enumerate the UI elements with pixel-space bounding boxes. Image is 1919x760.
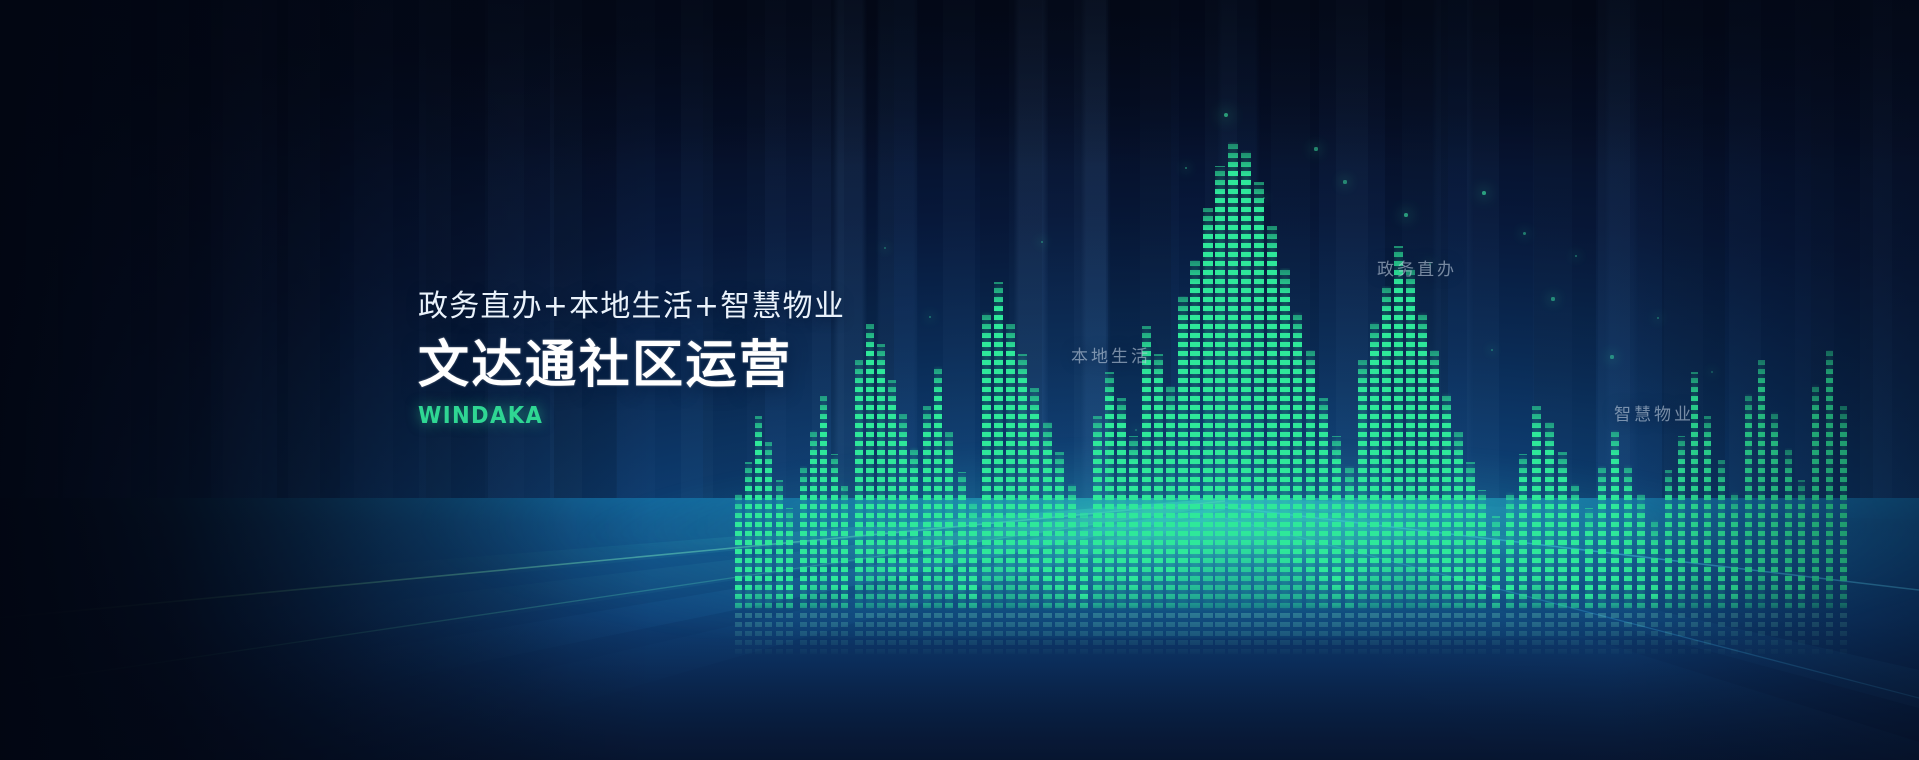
skyline-bar — [910, 446, 918, 612]
skyline-bar — [1370, 322, 1379, 612]
skyline-bar-dots — [1319, 398, 1328, 612]
skyline-bar-dots — [1178, 296, 1188, 612]
skyline-bar — [1532, 406, 1541, 612]
skyline-bar-reflection-dots — [1093, 612, 1102, 658]
hero-title: 文达通社区运营 — [418, 338, 845, 394]
skyline-bar-reflection — [958, 612, 966, 658]
skyline-bar-dots — [1293, 312, 1302, 612]
skyline-bar — [1651, 520, 1658, 612]
skyline-bar-reflection-dots — [1142, 612, 1151, 658]
skyline-bar-reflection-dots — [1611, 612, 1619, 658]
skyline-bar-dots — [1358, 360, 1367, 612]
skyline-bar — [969, 500, 977, 612]
skyline-bar — [1129, 436, 1138, 612]
skyline-bar — [1267, 226, 1277, 612]
skyline-bar-reflection — [1758, 612, 1765, 658]
skyline-bar-dots — [866, 324, 874, 612]
skyline-bar — [1637, 494, 1645, 612]
skyline-bar-reflection — [1080, 612, 1088, 658]
skyline-bar-dots — [923, 406, 931, 612]
skyline-bar-dots — [1745, 394, 1752, 612]
skyline-bar — [899, 414, 907, 612]
skyline-bar — [1293, 312, 1302, 612]
skyline-bar-reflection-dots — [1598, 612, 1606, 658]
skyline-bar — [1345, 466, 1354, 612]
skyline-bar-reflection — [1745, 612, 1752, 658]
skyline-bar-dots — [1105, 372, 1114, 612]
skyline-bar-reflection-dots — [1624, 612, 1632, 658]
skyline-bar-dots — [1190, 260, 1200, 612]
skyline-bar-reflection-dots — [1105, 612, 1114, 658]
skyline-bar — [888, 380, 896, 612]
skyline-bar-dots — [1006, 324, 1015, 612]
skyline-bar — [1704, 416, 1711, 612]
skyline-bar-dots — [1545, 422, 1554, 612]
skyline-bar-reflection — [755, 612, 762, 658]
skyline-bar-reflection-dots — [1345, 612, 1354, 658]
skyline-bar-reflection — [1478, 612, 1486, 658]
skyline-bar-dots — [1812, 384, 1819, 612]
skyline-bar-dots — [1840, 406, 1847, 612]
skyline-bar — [1018, 354, 1027, 612]
skyline-bar-dots — [1506, 492, 1514, 612]
skyline-bar — [1558, 452, 1567, 612]
skyline-bar-reflection-dots — [1718, 612, 1725, 658]
skyline-bar-dots — [1382, 286, 1391, 612]
skyline-bar-reflection-dots — [1267, 612, 1277, 658]
skyline-bar — [1093, 416, 1102, 612]
skyline-bar — [1105, 372, 1114, 612]
skyline-bar-reflection-dots — [899, 612, 907, 658]
skyline-bar — [1306, 350, 1315, 612]
skyline-bar-reflection-dots — [820, 612, 827, 658]
skyline-bar-dots — [934, 366, 942, 612]
skyline-bar-reflection — [1624, 612, 1632, 658]
skyline-bar-reflection-dots — [934, 612, 942, 658]
skyline-bar-reflection-dots — [1280, 612, 1290, 658]
skyline-bar — [786, 508, 793, 612]
skyline-bar-reflection-dots — [1228, 612, 1238, 658]
skyline-bar — [1665, 470, 1672, 612]
skyline-bar-reflection-dots — [1812, 612, 1819, 658]
skyline-bar-reflection-dots — [745, 612, 752, 658]
skyline-bar — [1442, 392, 1451, 612]
skyline-bar-reflection-dots — [1454, 612, 1463, 658]
skyline-bar-reflection-dots — [1691, 612, 1698, 658]
skyline-bar-reflection — [1293, 612, 1302, 658]
skyline-bar — [1215, 166, 1225, 612]
skyline-bar-dots — [1043, 422, 1052, 612]
skyline-bar — [1430, 350, 1439, 612]
skyline-bar-dots — [1068, 484, 1076, 612]
skyline-bar-reflection-dots — [1293, 612, 1302, 658]
skyline-bar — [1406, 268, 1415, 612]
skyline-bar — [1840, 406, 1847, 612]
skyline-bar-reflection — [800, 612, 807, 658]
skyline-bar — [923, 406, 931, 612]
skyline-bar-reflection — [1043, 612, 1052, 658]
skyline-bar-dots — [735, 494, 742, 612]
skyline-bar — [1178, 296, 1188, 612]
skyline-bar-reflection — [1370, 612, 1379, 658]
skyline-bar-reflection-dots — [1466, 612, 1475, 658]
skyline-bar — [1228, 142, 1238, 612]
skyline-bar-reflection-dots — [945, 612, 953, 658]
skyline-bar-reflection-dots — [1254, 612, 1264, 658]
skyline-bar-reflection-dots — [969, 612, 977, 658]
skyline-bar-dots — [1826, 350, 1833, 612]
skyline-bar-reflection — [877, 612, 885, 658]
skyline-bar — [765, 442, 772, 612]
skyline-bar-reflection-dots — [1771, 612, 1778, 658]
skyline-bar — [1745, 394, 1752, 612]
skyline-bar-dots — [831, 454, 838, 612]
skyline-bar-reflection — [831, 612, 838, 658]
skyline-bar-reflection — [1637, 612, 1645, 658]
brand-wordmark: WINDAKA — [418, 403, 811, 429]
skyline-bar-reflection-dots — [1798, 612, 1805, 658]
skyline-bar-reflection — [1306, 612, 1315, 658]
skyline-bar-reflection-dots — [888, 612, 896, 658]
skyline-bar-reflection-dots — [1332, 612, 1341, 658]
skyline-bar — [755, 416, 762, 612]
skyline-bar-reflection — [1651, 612, 1658, 658]
skyline-bar-dots — [1018, 354, 1027, 612]
skyline-bar-reflection-dots — [1129, 612, 1138, 658]
skyline-bar-reflection-dots — [1358, 612, 1367, 658]
skyline-bar-reflection-dots — [923, 612, 931, 658]
skyline-bar-reflection — [1394, 612, 1403, 658]
skyline-bar — [1068, 484, 1076, 612]
skyline-bar — [1826, 350, 1833, 612]
skyline-bar-reflection — [969, 612, 977, 658]
skyline-bar-reflection — [1665, 612, 1672, 658]
skyline-bar — [1798, 480, 1805, 612]
skyline-bar-dots — [1332, 436, 1341, 612]
skyline-bar-reflection — [1826, 612, 1833, 658]
skyline-bar-dots — [1267, 226, 1277, 612]
skyline-bar-reflection — [1105, 612, 1114, 658]
skyline-bar — [1585, 508, 1593, 612]
skyline-bar — [1241, 150, 1251, 612]
skyline-bar — [1454, 432, 1463, 612]
skyline-bar-dots — [841, 486, 848, 612]
skyline-bar — [1466, 462, 1475, 612]
skyline-bar-reflection — [855, 612, 863, 658]
skyline-bar — [1358, 360, 1367, 612]
skyline-bar-reflection-dots — [841, 612, 848, 658]
skyline-bar-reflection — [1406, 612, 1415, 658]
skyline-bar-reflection-dots — [1826, 612, 1833, 658]
skyline-bar — [1571, 484, 1579, 612]
skyline-bar — [1492, 516, 1500, 612]
skyline-bar-reflection — [1117, 612, 1126, 658]
skyline-bar — [1382, 286, 1391, 612]
skyline-bar — [1394, 246, 1403, 612]
skyline-bar-reflection-dots — [910, 612, 918, 658]
skyline-bar — [1678, 436, 1685, 612]
skyline-bar-reflection-dots — [1068, 612, 1076, 658]
skyline-bar-reflection — [888, 612, 896, 658]
skyline-bar-reflection — [1228, 612, 1238, 658]
skyline-bar-reflection — [1558, 612, 1567, 658]
skyline-bar-dots — [1454, 432, 1463, 612]
skyline-bar — [1785, 448, 1792, 612]
skyline-bar-dots — [755, 416, 762, 612]
skyline-bar — [1203, 208, 1213, 612]
skyline-bar-reflection — [1771, 612, 1778, 658]
skyline-bar-reflection — [1442, 612, 1451, 658]
skyline-bar-dots — [1228, 142, 1238, 612]
skyline-bar-dots — [855, 360, 863, 612]
skyline-bar-reflection-dots — [831, 612, 838, 658]
skyline-bar-reflection-dots — [800, 612, 807, 658]
skyline-bar-reflection-dots — [1043, 612, 1052, 658]
skyline-bar-reflection-dots — [1370, 612, 1379, 658]
skyline-bar-reflection — [1241, 612, 1251, 658]
skyline-bar-reflection — [1382, 612, 1391, 658]
skyline-bar-reflection-dots — [1785, 612, 1792, 658]
skyline-bar-dots — [1558, 452, 1567, 612]
skyline-bar-reflection-dots — [1154, 612, 1163, 658]
skyline-bar-reflection — [1166, 612, 1175, 658]
skyline-bar-reflection-dots — [1558, 612, 1567, 658]
skyline-bar-dots — [1651, 520, 1658, 612]
skyline-bar-reflection-dots — [1030, 612, 1039, 658]
skyline-bar-dots — [1704, 416, 1711, 612]
skyline-bar — [1506, 492, 1514, 612]
skyline-bar-reflection-dots — [1080, 612, 1088, 658]
skyline-bar-dots — [1478, 490, 1486, 612]
skyline-bar-reflection — [786, 612, 793, 658]
skyline-bar-reflection — [1018, 612, 1027, 658]
skyline-bar-reflection — [899, 612, 907, 658]
skyline-bar-reflection — [765, 612, 772, 658]
skyline-bar-dots — [1406, 268, 1415, 612]
skyline-bar-reflection-dots — [1117, 612, 1126, 658]
skyline-bar — [1478, 490, 1486, 612]
skyline-bar-dots — [1430, 350, 1439, 612]
skyline-bar — [1731, 492, 1738, 612]
skyline-bar-reflection-dots — [877, 612, 885, 658]
skyline-bar — [877, 344, 885, 612]
skyline-bar-dots — [1585, 508, 1593, 612]
skyline-bar-dots — [877, 344, 885, 612]
skyline-bar-dots — [969, 500, 977, 612]
skyline-bar-reflection — [820, 612, 827, 658]
skyline-bar-reflection — [866, 612, 874, 658]
skyline-bar — [1758, 360, 1765, 612]
hero-banner: 本地生活 政务直办 智慧物业 政务直办+本地生活+智慧物业 文达通社区运营 WI… — [0, 0, 1919, 760]
skyline-bar-reflection — [1718, 612, 1725, 658]
skyline-bar-reflection — [1190, 612, 1200, 658]
skyline-bar-dots — [1306, 350, 1315, 612]
skyline-bar — [958, 472, 966, 612]
skyline-bar-reflection — [1154, 612, 1163, 658]
skyline-bar-dots — [1117, 398, 1126, 612]
skyline-bar-reflection-dots — [1840, 612, 1847, 658]
skyline-bar-reflection-dots — [1665, 612, 1672, 658]
skyline-bar-dots — [1785, 448, 1792, 612]
skyline-bar-reflection — [1571, 612, 1579, 658]
skyline-label-local-life: 本地生活 — [1071, 342, 1151, 367]
skyline-bar-reflection-dots — [958, 612, 966, 658]
skyline-bar-dots — [1624, 464, 1632, 612]
skyline-bar-reflection — [1466, 612, 1475, 658]
skyline-bar — [1771, 412, 1778, 612]
skyline-bar-dots — [1080, 512, 1088, 612]
skyline-bar-dots — [888, 380, 896, 612]
skyline-bar-dots — [1030, 388, 1039, 612]
skyline-bar-reflection-dots — [982, 612, 991, 658]
skyline-bar-reflection-dots — [1418, 612, 1427, 658]
skyline-bar-dots — [1758, 360, 1765, 612]
skyline-bar-reflection — [776, 612, 783, 658]
dotted-skyline-chart — [0, 0, 1919, 760]
skyline-bar — [994, 282, 1003, 612]
skyline-bar-dots — [1055, 452, 1064, 612]
skyline-bar-reflection-dots — [855, 612, 863, 658]
skyline-bar — [1611, 430, 1619, 612]
skyline-bar-dots — [1571, 484, 1579, 612]
skyline-bar-reflection-dots — [1585, 612, 1593, 658]
skyline-bar-dots — [1492, 516, 1500, 612]
skyline-bar-reflection-dots — [1166, 612, 1175, 658]
skyline-bar — [855, 360, 863, 612]
skyline-bar-reflection — [1454, 612, 1463, 658]
skyline-bar-reflection-dots — [1215, 612, 1225, 658]
skyline-bar-dots — [1611, 430, 1619, 612]
skyline-label-smart-property: 智慧物业 — [1614, 400, 1694, 425]
skyline-bar-reflection-dots — [1651, 612, 1658, 658]
skyline-bar — [1280, 268, 1290, 612]
skyline-bar-dots — [1519, 454, 1527, 612]
skyline-bar-reflection — [1585, 612, 1593, 658]
skyline-bar-reflection — [735, 612, 742, 658]
skyline-bar-reflection — [1203, 612, 1213, 658]
skyline-bar — [1142, 326, 1151, 612]
skyline-bar-dots — [1370, 322, 1379, 612]
skyline-bar-reflection — [1030, 612, 1039, 658]
skyline-bar-dots — [1215, 166, 1225, 612]
skyline-bar-reflection — [1598, 612, 1606, 658]
skyline-bar-reflection-dots — [1018, 612, 1027, 658]
skyline-bar-reflection-dots — [1532, 612, 1541, 658]
skyline-bar — [1080, 512, 1088, 612]
skyline-bar-reflection-dots — [1506, 612, 1514, 658]
skyline-bar-reflection — [1611, 612, 1619, 658]
skyline-bar-dots — [994, 282, 1003, 612]
skyline-bar-reflection-dots — [776, 612, 783, 658]
skyline-bar — [934, 366, 942, 612]
skyline-bar — [810, 430, 817, 612]
skyline-bar-reflection-dots — [1382, 612, 1391, 658]
skyline-bar — [776, 480, 783, 612]
skyline-bar — [1718, 460, 1725, 612]
skyline-bar-reflection — [1093, 612, 1102, 658]
skyline-bar-dots — [1798, 480, 1805, 612]
skyline-bar-reflection-dots — [1545, 612, 1554, 658]
skyline-bar-reflection — [1519, 612, 1527, 658]
skyline-bar — [982, 312, 991, 612]
skyline-bar-dots — [1731, 492, 1738, 612]
skyline-bar-reflection-dots — [1178, 612, 1188, 658]
skyline-bar-reflection-dots — [786, 612, 793, 658]
skyline-bar-dots — [1466, 462, 1475, 612]
skyline-bar-reflection — [1129, 612, 1138, 658]
skyline-bar — [745, 462, 752, 612]
skyline-bar-reflection-dots — [1442, 612, 1451, 658]
skyline-bar-dots — [1442, 392, 1451, 612]
skyline-bar-reflection-dots — [1704, 612, 1711, 658]
skyline-bar-dots — [1394, 246, 1403, 612]
skyline-bar-reflection-dots — [1406, 612, 1415, 658]
skyline-bar — [1624, 464, 1632, 612]
skyline-bar — [735, 494, 742, 612]
skyline-bar-dots — [765, 442, 772, 612]
skyline-bar — [945, 432, 953, 612]
skyline-bar-reflection — [923, 612, 931, 658]
skyline-bar — [1319, 398, 1328, 612]
skyline-bar-reflection-dots — [1678, 612, 1685, 658]
skyline-bar-reflection — [1678, 612, 1685, 658]
skyline-bar — [1812, 384, 1819, 612]
skyline-bar-reflection — [1178, 612, 1188, 658]
skyline-bar-dots — [776, 480, 783, 612]
skyline-bar-reflection — [1798, 612, 1805, 658]
skyline-bar-reflection-dots — [1731, 612, 1738, 658]
skyline-bar-reflection — [1332, 612, 1341, 658]
skyline-bar-dots — [1718, 460, 1725, 612]
skyline-bar-reflection — [1215, 612, 1225, 658]
skyline-bar — [831, 454, 838, 612]
hero-subtitle: 政务直办+本地生活+智慧物业 — [418, 288, 845, 326]
skyline-bar-reflection — [1418, 612, 1427, 658]
skyline-bar-dots — [1254, 182, 1264, 612]
skyline-bar-reflection-dots — [810, 612, 817, 658]
skyline-bar-reflection-dots — [1203, 612, 1213, 658]
skyline-bar-reflection — [982, 612, 991, 658]
skyline-bar-reflection — [810, 612, 817, 658]
skyline-bar-reflection — [1430, 612, 1439, 658]
skyline-bar-dots — [810, 430, 817, 612]
skyline-bar — [1030, 388, 1039, 612]
skyline-bar-reflection — [1532, 612, 1541, 658]
skyline-bar-dots — [1129, 436, 1138, 612]
skyline-bar-dots — [945, 432, 953, 612]
skyline-label-government-desk: 政务直办 — [1377, 255, 1457, 280]
skyline-bar-reflection-dots — [735, 612, 742, 658]
skyline-bar — [1519, 454, 1527, 612]
skyline-bar-reflection — [1254, 612, 1264, 658]
skyline-bar — [1545, 422, 1554, 612]
skyline-bar — [1190, 260, 1200, 612]
skyline-bar-reflection — [910, 612, 918, 658]
skyline-bar-reflection-dots — [994, 612, 1003, 658]
skyline-bar-reflection — [1319, 612, 1328, 658]
skyline-bar — [1154, 354, 1163, 612]
skyline-bar — [1006, 324, 1015, 612]
skyline-bar-dots — [1154, 354, 1163, 612]
hero-copy-block: 政务直办+本地生活+智慧物业 文达通社区运营 WINDAKA — [418, 288, 845, 429]
skyline-bar-reflection — [1345, 612, 1354, 658]
skyline-bar-dots — [1418, 312, 1427, 612]
skyline-bar-reflection — [1280, 612, 1290, 658]
skyline-bar-reflection-dots — [765, 612, 772, 658]
skyline-bar-dots — [899, 414, 907, 612]
skyline-bar-reflection — [1492, 612, 1500, 658]
skyline-bar-reflection-dots — [1492, 612, 1500, 658]
